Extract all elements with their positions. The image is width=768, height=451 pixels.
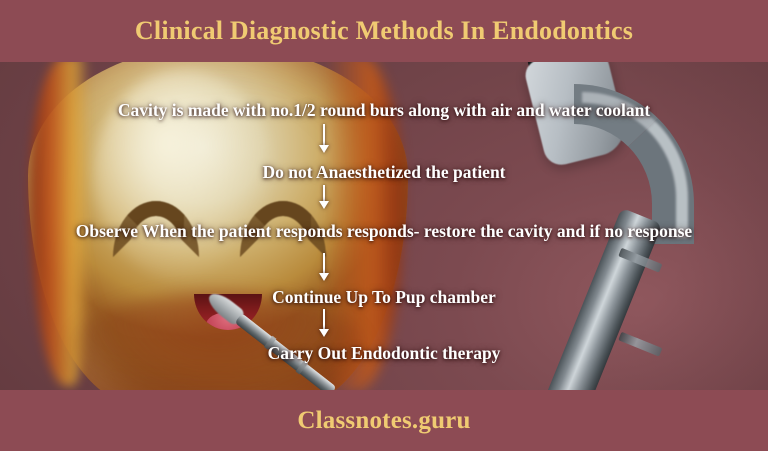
page-title: Clinical Diagnostic Methods In Endodonti… xyxy=(135,16,633,46)
arrow-line xyxy=(323,253,325,273)
flow-step-2: Do not Anaesthetized the patient xyxy=(0,162,768,183)
arrow-line xyxy=(323,124,325,145)
flowchart: Cavity is made with no.1/2 round burs al… xyxy=(0,62,768,390)
flow-step-5: Carry Out Endodontic therapy xyxy=(0,343,768,364)
arrow-head xyxy=(319,145,329,153)
arrow-line xyxy=(323,309,325,329)
arrow-head xyxy=(319,201,329,209)
header-band: Clinical Diagnostic Methods In Endodonti… xyxy=(0,0,768,62)
slide-canvas: Clinical Diagnostic Methods In Endodonti… xyxy=(0,0,768,451)
arrow-head xyxy=(319,273,329,281)
flow-step-1: Cavity is made with no.1/2 round burs al… xyxy=(0,100,768,121)
arrow-head xyxy=(319,329,329,337)
arrow-line xyxy=(323,185,325,201)
flow-step-3: Observe When the patient responds respon… xyxy=(0,221,768,242)
flow-step-4: Continue Up To Pup chamber xyxy=(0,287,768,308)
site-branding: Classnotes.guru xyxy=(297,407,470,435)
footer-band: Classnotes.guru xyxy=(0,390,768,451)
